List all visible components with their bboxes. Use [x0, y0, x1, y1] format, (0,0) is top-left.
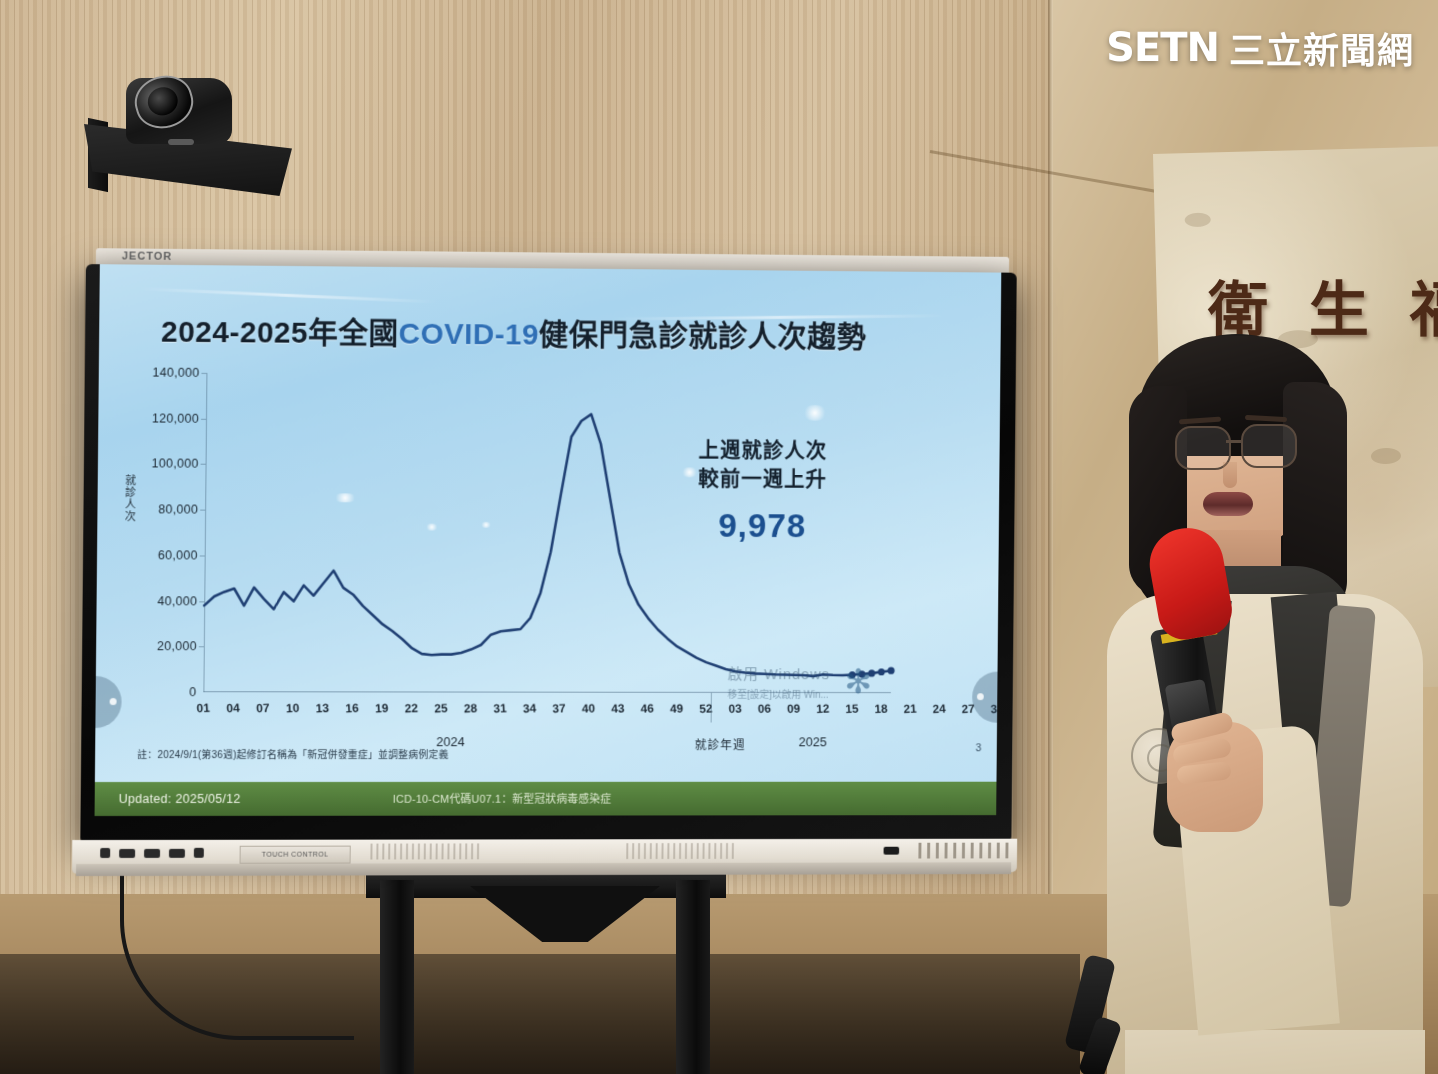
setn-latin-logo: SETN: [1106, 25, 1219, 71]
x-tick-06: 06: [758, 701, 772, 715]
y-tick-0: 0: [189, 685, 196, 699]
setn-watermark: SETN 三立新聞網: [1106, 22, 1414, 74]
slide-footer-bar: Updated: 2025/05/12 ICD-10-CM代碼U07.1：新型冠…: [95, 782, 997, 816]
footer-updated-label: Updated: 2025/05/12: [119, 792, 241, 806]
presenter-mouth: [1203, 492, 1253, 516]
y-tick-80000: 80,000: [158, 503, 198, 517]
display-control-panel[interactable]: TOUCH CONTROL: [240, 846, 351, 864]
x-tick-46: 46: [640, 701, 654, 716]
usb-port-2[interactable]: [144, 848, 160, 857]
display-bottom-edge: [76, 862, 1011, 876]
slide-footnote: 註：2024/9/1(第36週)起修訂名稱為「新冠併發重症」並調整病例定義: [137, 746, 449, 761]
power-port[interactable]: [100, 848, 110, 858]
x-tick-07: 07: [256, 701, 270, 716]
glasses-bridge: [1226, 440, 1243, 443]
x-tick-03: 03: [728, 701, 742, 715]
slide-title: 2024-2025年全國COVID-19健保門急診就診人次趨勢: [161, 307, 867, 356]
data-point-marker: [888, 667, 895, 674]
display-stand-left-column: [380, 880, 414, 1074]
display-speaker-grille: [918, 843, 1011, 859]
presentation-slide: 2024-2025年全國COVID-19健保門急診就診人次趨勢 就診人次 020…: [95, 264, 1002, 816]
x-tick-15: 15: [845, 702, 859, 716]
y-axis-title: 就診人次: [119, 474, 135, 522]
display-screen[interactable]: 2024-2025年全國COVID-19健保門急診就診人次趨勢 就診人次 020…: [95, 264, 1002, 816]
windows-watermark-line-1: 啟用 Windows: [728, 663, 830, 684]
y-tick-100000: 100,000: [151, 457, 198, 471]
x-tick-25: 25: [434, 701, 448, 716]
glasses-lens-right: [1241, 424, 1297, 468]
x-tick-21: 21: [903, 702, 917, 716]
windows-activation-watermark: 啟用 Windows 移至[設定]以啟用 Win...: [727, 663, 830, 701]
footer-icd-label: ICD-10-CM代碼U07.1：新型冠狀病毒感染症: [393, 791, 612, 807]
x-tick-31: 31: [493, 701, 507, 716]
x-axis-title: 就診年週: [695, 736, 746, 753]
annotation-line-2: 較前一週上升: [698, 465, 827, 494]
x-tick-04: 04: [226, 701, 240, 716]
y-tick-120000: 120,000: [152, 411, 199, 425]
snowflake-icon: ✻: [844, 665, 872, 699]
annotation-callout: 上週就診人次 較前一週上升 9,978: [698, 436, 828, 546]
slide-title-suffix: 健保門急診就診人次趨勢: [539, 319, 867, 354]
x-tick-24: 24: [932, 702, 945, 716]
slide-title-en: COVID-19: [398, 318, 539, 352]
presenter-nose: [1223, 462, 1237, 488]
windows-watermark-line-2: 移至[設定]以啟用 Win...: [727, 686, 829, 701]
x-tick-37: 37: [552, 701, 566, 716]
display-stand-right-column: [676, 880, 710, 1074]
year-divider: [711, 693, 712, 723]
presenter-trousers: [1125, 1030, 1425, 1074]
x-tick-01: 01: [196, 701, 210, 716]
y-tick-60000: 60,000: [158, 548, 198, 562]
x-tick-43: 43: [611, 701, 625, 716]
usb-port-1[interactable]: [119, 848, 135, 857]
data-point-marker: [878, 668, 885, 675]
display-brand-label: JECTOR: [122, 250, 172, 262]
x-tick-28: 28: [464, 701, 478, 716]
slide-page-number: 3: [975, 742, 981, 754]
x-tick-40: 40: [582, 701, 596, 716]
x-tick-19: 19: [375, 701, 389, 716]
camera-led-strip: [168, 139, 194, 145]
y-tick-140000: 140,000: [152, 366, 199, 380]
x-tick-13: 13: [315, 701, 329, 716]
setn-chinese-logo: 三立新聞網: [1229, 22, 1414, 74]
x-tick-16: 16: [345, 701, 359, 716]
y-tick-40000: 40,000: [157, 594, 197, 608]
x-tick-09: 09: [787, 702, 801, 716]
ir-receiver: [884, 847, 900, 855]
aux-port[interactable]: [194, 848, 204, 858]
interactive-display[interactable]: JECTOR 2024-2025年全國COVID-19健保門急診就診人次趨勢 就…: [72, 248, 1021, 868]
y-tick-20000: 20,000: [157, 639, 197, 653]
x-tick-18: 18: [874, 702, 888, 716]
x-tick-49: 49: [670, 701, 684, 716]
x-tick-22: 22: [404, 701, 418, 716]
x-tick-34: 34: [523, 701, 537, 716]
press-conference-screenshot: 衛 生 福 Cen JECTOR 2024-2025年全國COVID-19健保門…: [0, 0, 1438, 1074]
x-tick-12: 12: [816, 702, 830, 716]
hdmi-port[interactable]: [169, 848, 185, 857]
x-tick-10: 10: [286, 701, 300, 716]
annotation-line-1: 上週就診人次: [698, 436, 827, 465]
slide-title-prefix: 2024-2025年全國: [161, 316, 399, 351]
display-vent-2: [626, 843, 734, 859]
display-port-row[interactable]: [100, 848, 204, 858]
x-group-label-2025: 2025: [799, 734, 827, 749]
annotation-value: 9,978: [698, 507, 827, 546]
presenter: [1045, 330, 1438, 1074]
display-vent-1: [370, 843, 479, 859]
